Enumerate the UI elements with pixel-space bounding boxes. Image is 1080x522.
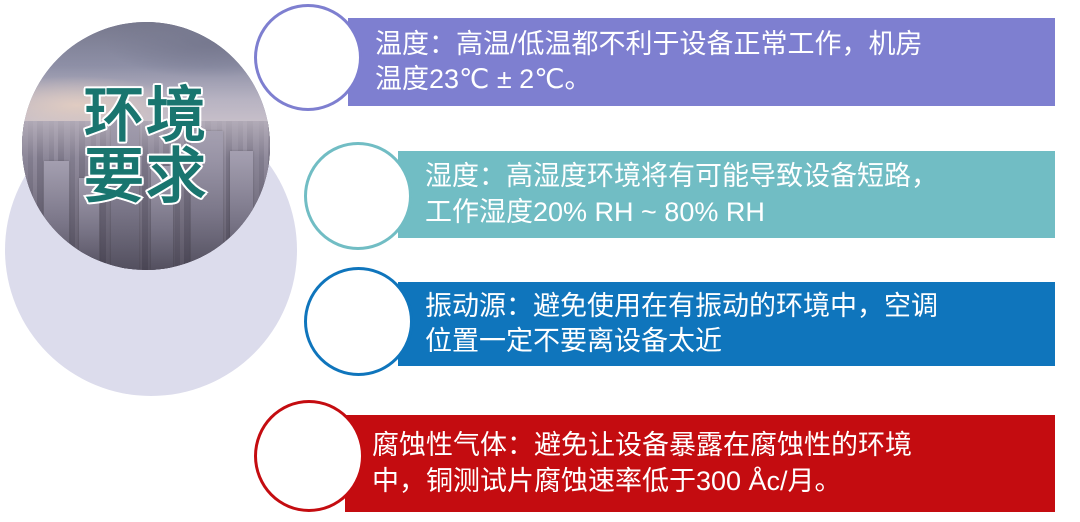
bullet-circle-temperature[interactable] bbox=[254, 4, 362, 111]
bar-humidity-text: 湿度：高湿度环境将有可能导致设备短路， 工作湿度20% RH ~ 80% RH bbox=[425, 159, 938, 229]
slide-canvas: 环境 要求 温度：高温/低温都不利于设备正常工作，机房 温度23℃ ± 2℃。 … bbox=[0, 0, 1080, 522]
bullet-circle-humidity[interactable] bbox=[304, 142, 412, 250]
bar-corrosive-gas[interactable]: 腐蚀性气体：避免让设备暴露在腐蚀性的环境 中，铜测试片腐蚀速率低于300 Åc/… bbox=[345, 415, 1055, 512]
bar-vibration[interactable]: 振动源：避免使用在有振动的环境中，空调 位置一定不要离设备太近 bbox=[398, 282, 1055, 366]
bar-temperature-text: 温度：高温/低温都不利于设备正常工作，机房 温度23℃ ± 2℃。 bbox=[375, 27, 923, 97]
bar-humidity[interactable]: 湿度：高湿度环境将有可能导致设备短路， 工作湿度20% RH ~ 80% RH bbox=[398, 151, 1055, 238]
bullet-circle-vibration[interactable] bbox=[304, 267, 413, 376]
bar-corrosive-gas-text: 腐蚀性气体：避免让设备暴露在腐蚀性的环境 中，铜测试片腐蚀速率低于300 Åc/… bbox=[372, 428, 912, 498]
bar-temperature[interactable]: 温度：高温/低温都不利于设备正常工作，机房 温度23℃ ± 2℃。 bbox=[348, 18, 1055, 106]
bar-vibration-text: 振动源：避免使用在有振动的环境中，空调 位置一定不要离设备太近 bbox=[425, 289, 938, 359]
bullet-circle-corrosive-gas[interactable] bbox=[254, 400, 364, 512]
